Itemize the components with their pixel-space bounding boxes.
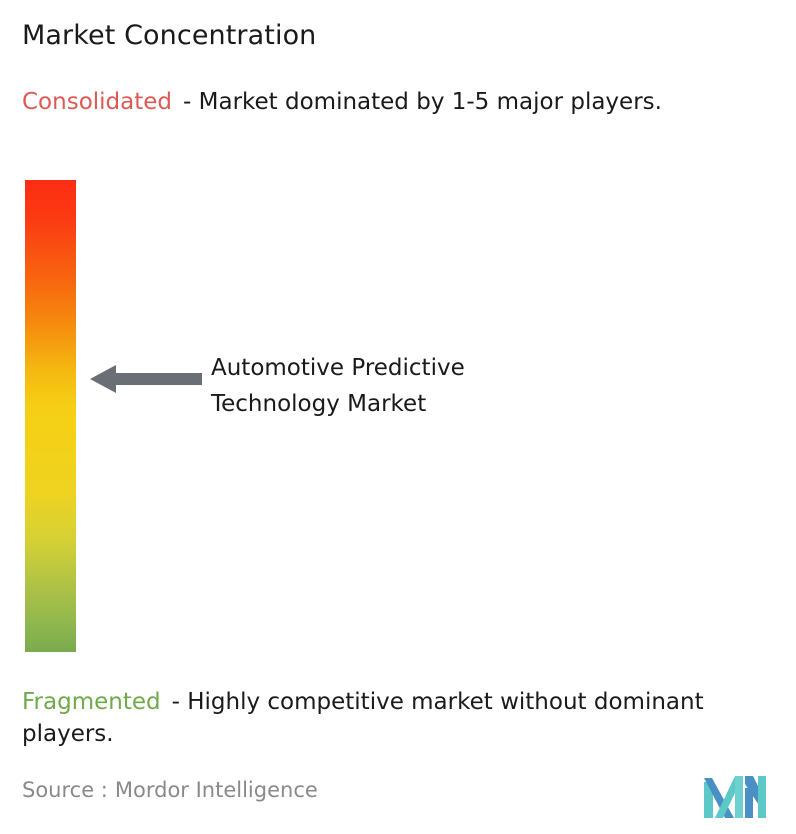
legend-consolidated-description: - Market dominated by 1-5 major players. [183,89,662,115]
concentration-gradient-bar [25,180,76,652]
market-callout-line-1: Automotive Predictive [211,350,611,386]
market-position-arrow [90,362,202,396]
legend-fragmented-term: Fragmented [22,689,161,715]
page-title: Market Concentration [22,18,316,54]
market-concentration-chart: Market Concentration Consolidated- Marke… [0,0,796,834]
legend-fragmented: Fragmented- Highly competitive market wi… [22,686,786,750]
market-callout-label: Automotive Predictive Technology Market [211,350,611,422]
legend-consolidated: Consolidated- Market dominated by 1-5 ma… [22,86,772,118]
source-label: Source : [22,778,108,802]
source-attribution: Source :Mordor Intelligence [22,775,318,805]
left-arrow-icon [90,362,202,396]
legend-consolidated-term: Consolidated [22,89,172,115]
mordor-intelligence-logo-icon [704,770,766,818]
mi-monogram-icon [704,770,766,818]
market-callout-line-2: Technology Market [211,386,611,422]
source-name: Mordor Intelligence [115,778,318,802]
